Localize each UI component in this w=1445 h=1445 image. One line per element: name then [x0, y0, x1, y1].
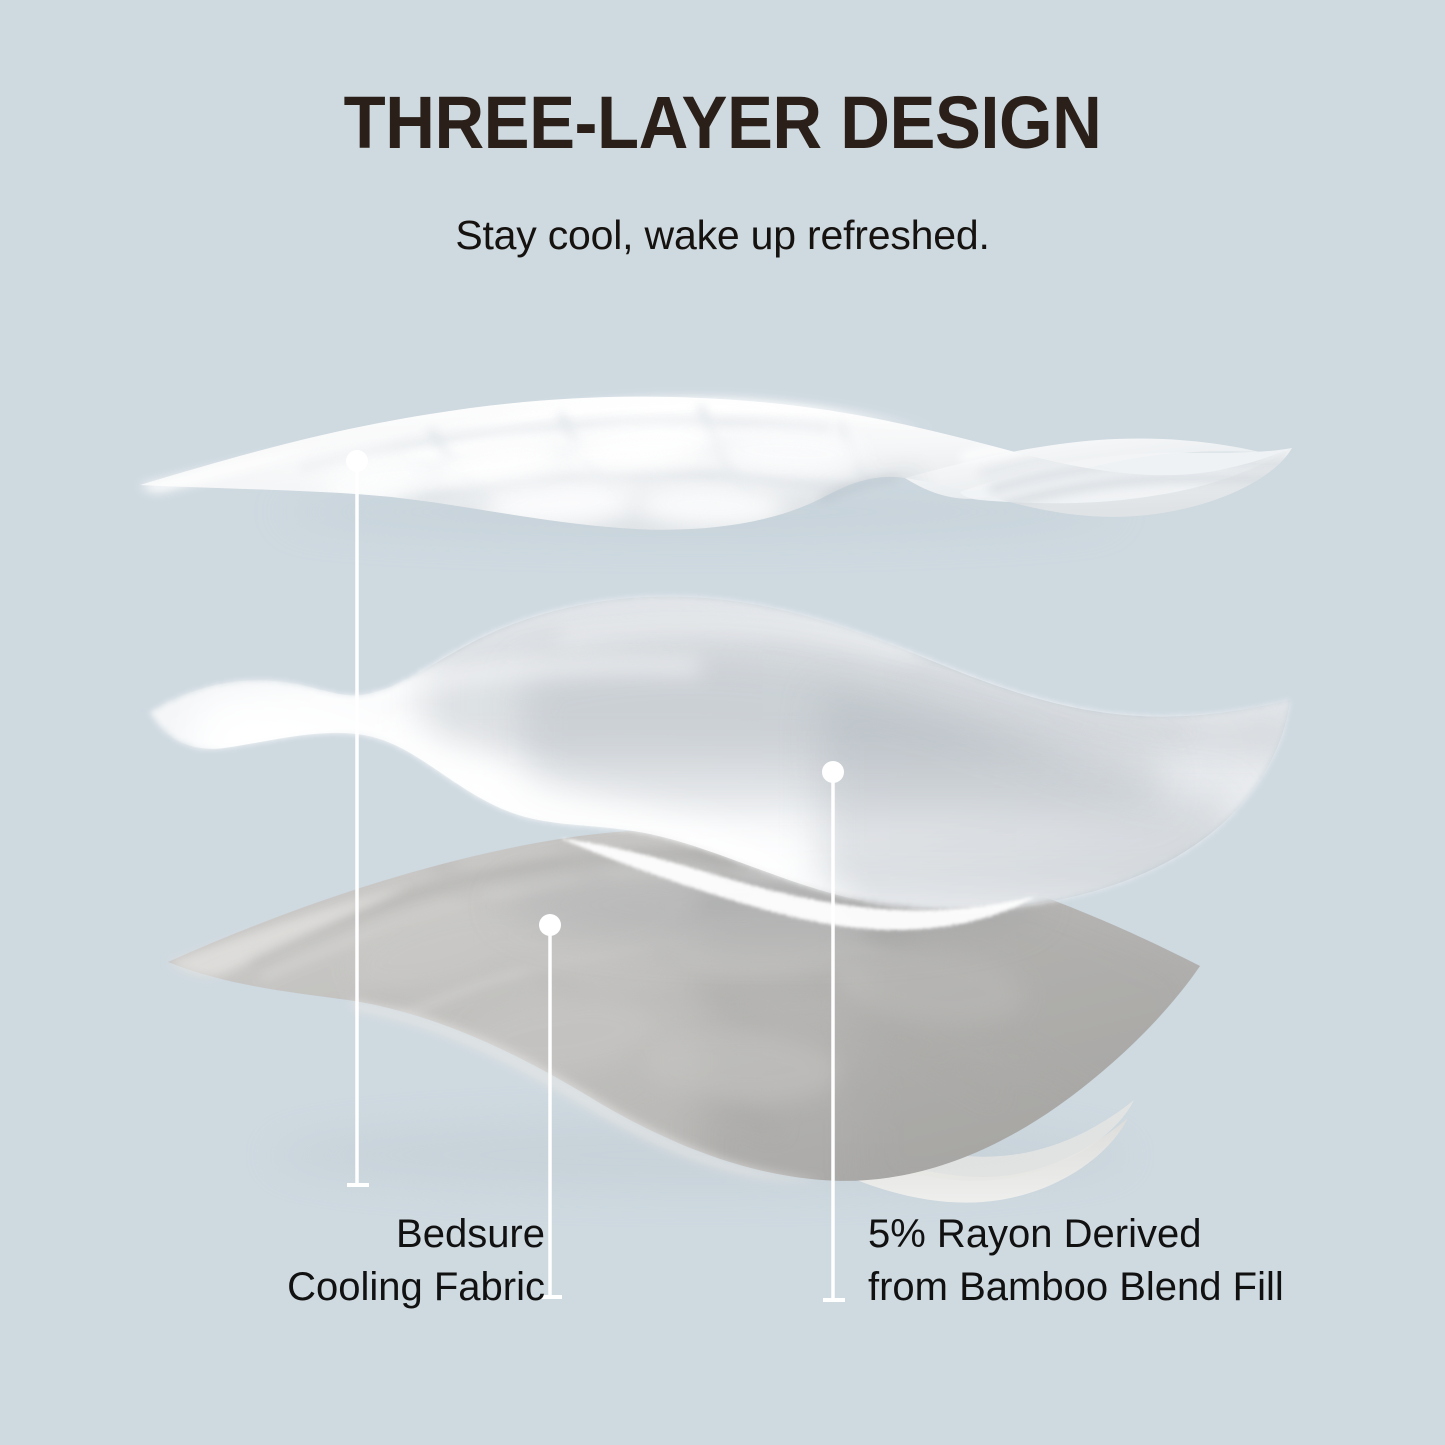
top-layer-quilted-cooling-fabric: [140, 397, 1292, 540]
infographic-canvas: THREE-LAYER DESIGN Stay cool, wake up re…: [0, 0, 1445, 1445]
header: THREE-LAYER DESIGN Stay cool, wake up re…: [0, 0, 1445, 256]
callout-line-cooling-fabric: [346, 450, 369, 1185]
callout-marker-bamboo-fill: [822, 761, 844, 783]
callout-marker-cooling-fabric: [346, 450, 368, 472]
callout-label-bamboo-fill: 5% Rayon Derived from Bamboo Blend Fill: [868, 1208, 1428, 1314]
callout-marker-quilted-backing: [539, 914, 561, 936]
page-subtitle: Stay cool, wake up refreshed.: [0, 160, 1445, 256]
middle-layer-bamboo-blend-fill: [150, 596, 1300, 947]
page-title: THREE-LAYER DESIGN: [51, 86, 1395, 160]
callout-label-cooling-fabric: Bedsure Cooling Fabric: [120, 1208, 545, 1314]
